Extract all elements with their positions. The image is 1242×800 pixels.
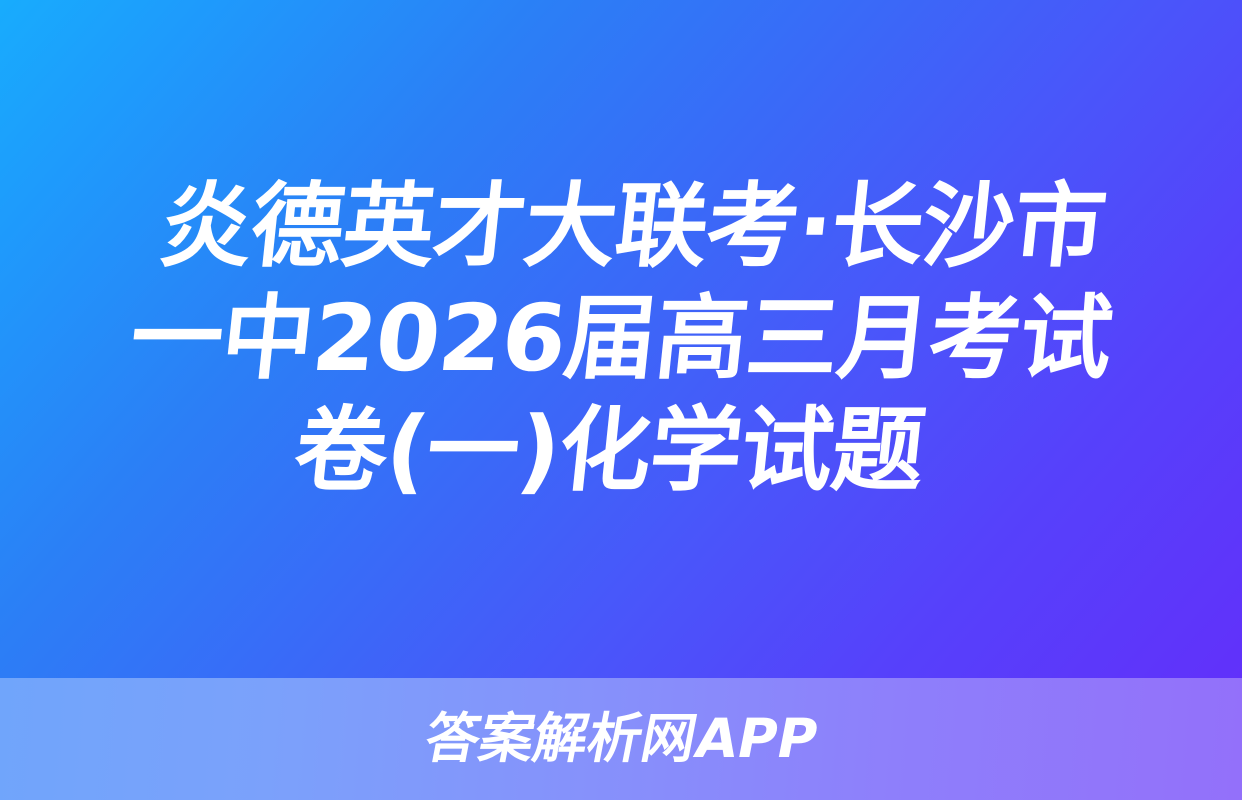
exam-cover-card: 炎德英才大联考·长沙市一中2026届高三月考试卷(一)化学试题 答案解析网APP	[0, 0, 1242, 800]
hero-gradient-panel: 炎德英才大联考·长沙市一中2026届高三月考试卷(一)化学试题	[0, 0, 1242, 678]
app-watermark-label: 答案解析网APP	[420, 712, 821, 766]
page-title: 炎德英才大联考·长沙市一中2026届高三月考试卷(一)化学试题	[86, 171, 1155, 507]
watermark-band: 答案解析网APP	[0, 678, 1242, 800]
